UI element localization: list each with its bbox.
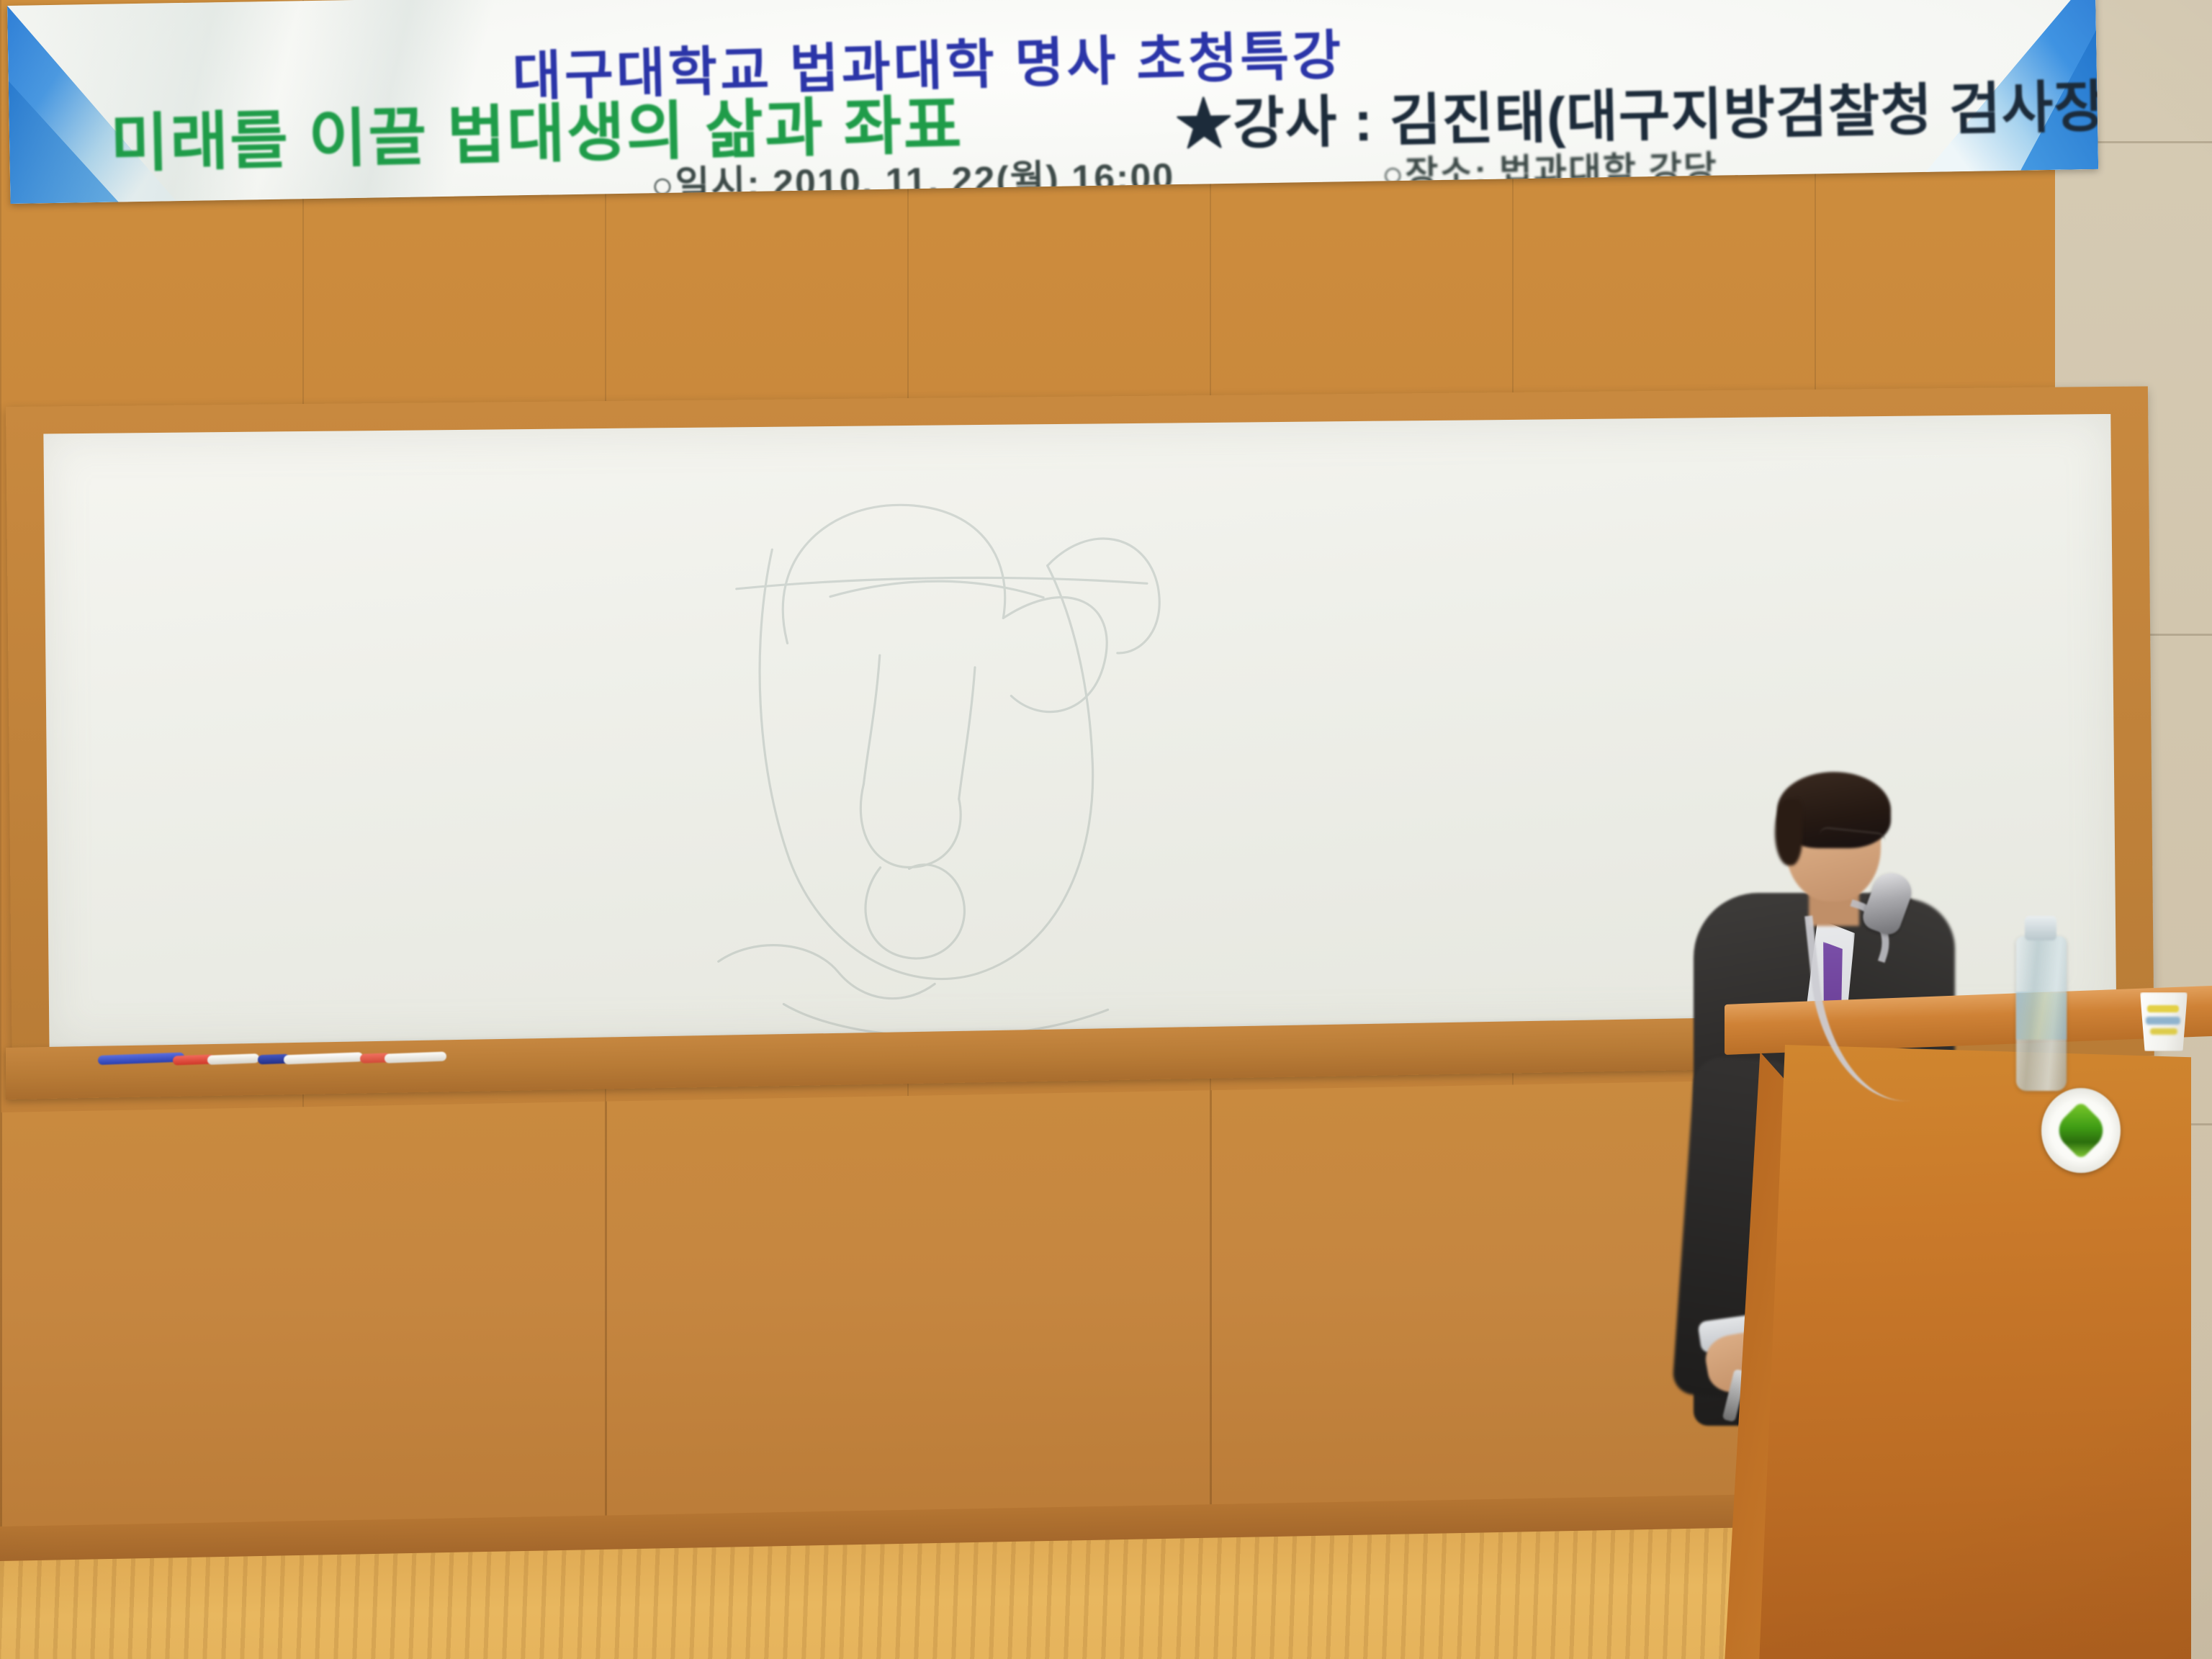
blue-marker[interactable] [98,1052,184,1065]
water-bottle-cap [2025,916,2056,940]
speaker-hair-side [1775,799,1802,866]
paper-cup-graphic [2147,1005,2179,1012]
podium [1725,1004,2212,1659]
paper-cup-graphic [2150,1028,2177,1035]
lecture-hall-photo: 대구대학교 법과대학 명사 초청특강 미래를 이끌 법대생의 삶과 좌표 ★강사… [0,0,2212,1659]
white-marker-3[interactable] [385,1051,446,1063]
white-marker-2[interactable] [284,1052,363,1064]
emblem-leaf-icon [2051,1101,2110,1160]
paper-cup-graphic [2146,1017,2180,1025]
podium-front-face [1759,1045,2191,1659]
university-emblem-icon [2041,1088,2121,1173]
wall-wainscot-panels [0,1079,1807,1545]
water-bottle-label [2016,992,2067,1040]
white-marker[interactable] [207,1053,259,1065]
event-banner: 대구대학교 법과대학 명사 초청특강 미래를 이끌 법대생의 삶과 좌표 ★강사… [7,0,2098,204]
